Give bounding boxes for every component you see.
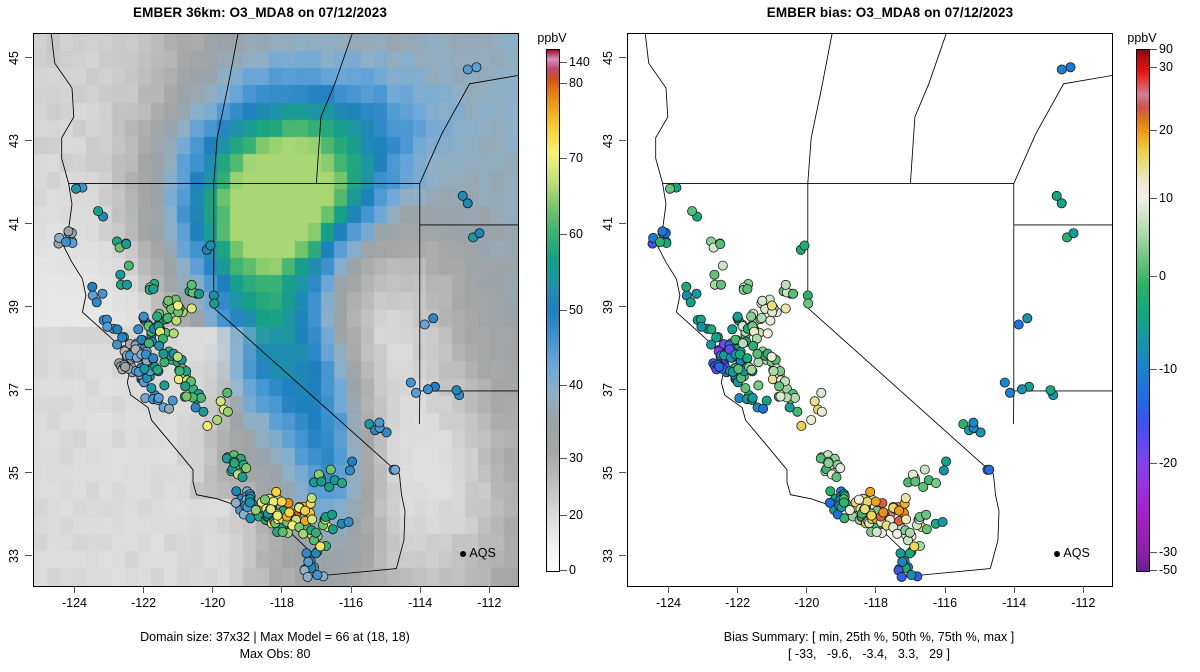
- colorbar-tick: [560, 310, 567, 311]
- colorbar-tick-label: 70: [569, 151, 583, 165]
- y-tick: [25, 140, 32, 141]
- x-tick: [875, 586, 876, 593]
- bias-caption-line2: [ -33, -9.6, -3.4, 3.3, 29 ]: [627, 647, 1111, 661]
- bias-overlay: [628, 34, 1112, 586]
- colorbar-tick: [560, 158, 567, 159]
- colorbar-tick: [1150, 67, 1157, 68]
- x-tick-label: -122: [725, 596, 750, 610]
- y-tick-label: 41: [601, 217, 615, 231]
- y-tick: [25, 306, 32, 307]
- colorbar-tick-label: 10: [1159, 191, 1173, 205]
- y-tick: [619, 306, 626, 307]
- colorbar-tick-label: -30: [1159, 545, 1177, 559]
- model-colorbar-title: ppbV: [537, 31, 566, 45]
- colorbar-tick-label: 30: [1159, 60, 1173, 74]
- y-tick-label: 37: [601, 383, 615, 397]
- bias-aqs-legend-label: AQS: [1063, 546, 1089, 560]
- x-tick: [806, 586, 807, 593]
- colorbar-tick: [560, 62, 567, 63]
- x-tick: [668, 586, 669, 593]
- x-tick: [420, 586, 421, 593]
- panel-bias-plot-area: [627, 33, 1113, 587]
- y-tick-label: 33: [7, 549, 21, 563]
- colorbar-tick-label: 90: [1159, 42, 1173, 56]
- colorbar-tick-label: 140: [569, 55, 590, 69]
- x-tick-label: -124: [62, 596, 87, 610]
- x-tick: [212, 586, 213, 593]
- y-tick: [25, 389, 32, 390]
- colorbar-tick: [1150, 463, 1157, 464]
- panel-bias-title: EMBER bias: O3_MDA8 on 07/12/2023: [630, 5, 1150, 20]
- x-tick: [945, 586, 946, 593]
- x-tick-label: -122: [131, 596, 156, 610]
- y-tick: [619, 555, 626, 556]
- y-tick: [25, 57, 32, 58]
- colorbar-tick: [1150, 570, 1157, 571]
- y-tick-label: 45: [601, 51, 615, 65]
- y-tick: [25, 472, 32, 473]
- colorbar-tick-label: 20: [569, 508, 583, 522]
- colorbar-tick: [1150, 198, 1157, 199]
- colorbar-tick: [1150, 49, 1157, 50]
- x-tick-label: -112: [477, 596, 501, 610]
- y-tick: [25, 555, 32, 556]
- colorbar-tick-label: 80: [569, 76, 583, 90]
- panel-model-title: EMBER 36km: O3_MDA8 on 07/12/2023: [0, 5, 520, 20]
- colorbar-tick: [560, 515, 567, 516]
- x-tick: [489, 586, 490, 593]
- colorbar-tick: [560, 83, 567, 84]
- colorbar-tick-label: 40: [569, 378, 583, 392]
- y-tick: [619, 472, 626, 473]
- y-tick: [25, 223, 32, 224]
- colorbar-tick: [1150, 552, 1157, 553]
- colorbar-tick-label: 0: [569, 563, 576, 577]
- y-tick-label: 43: [7, 134, 21, 148]
- colorbar-tick-label: 0: [1159, 269, 1166, 283]
- x-tick-label: -118: [270, 596, 294, 610]
- bias-colorbar: [1136, 49, 1150, 572]
- y-tick-label: 35: [7, 466, 21, 480]
- colorbar-tick: [560, 234, 567, 235]
- x-tick-label: -114: [1002, 596, 1026, 610]
- colorbar-tick-label: 30: [569, 451, 583, 465]
- y-tick: [619, 57, 626, 58]
- colorbar-tick-label: 20: [1159, 123, 1173, 137]
- bias-caption-line1: Bias Summary: [ min, 25th %, 50th %, 75t…: [627, 630, 1111, 644]
- x-tick-label: -116: [933, 596, 957, 610]
- x-tick-label: -120: [794, 596, 819, 610]
- figure-root: EMBER 36km: O3_MDA8 on 07/12/2023 -124-1…: [0, 0, 1200, 672]
- colorbar-tick-label: 60: [569, 227, 583, 241]
- x-tick-label: -112: [1071, 596, 1095, 610]
- y-tick-label: 41: [7, 217, 21, 231]
- model-aqs-legend-label: AQS: [469, 546, 495, 560]
- panel-model: EMBER 36km: O3_MDA8 on 07/12/2023 -124-1…: [0, 0, 600, 672]
- y-tick-label: 37: [7, 383, 21, 397]
- colorbar-tick-label: 50: [569, 303, 583, 317]
- colorbar-tick: [560, 458, 567, 459]
- model-colorbar: [546, 49, 560, 572]
- x-tick-label: -114: [408, 596, 432, 610]
- y-tick-label: 45: [7, 51, 21, 65]
- colorbar-tick: [1150, 369, 1157, 370]
- x-tick: [74, 586, 75, 593]
- model-caption-line1: Domain size: 37x32 | Max Model = 66 at (…: [33, 630, 517, 644]
- colorbar-tick: [560, 385, 567, 386]
- panel-model-plot-area: [33, 33, 519, 587]
- model-overlay: [34, 34, 518, 586]
- bias-colorbar-title: ppbV: [1127, 31, 1156, 45]
- y-tick-label: 33: [601, 549, 615, 563]
- x-tick: [351, 586, 352, 593]
- y-tick-label: 35: [601, 466, 615, 480]
- colorbar-tick-label: -20: [1159, 456, 1177, 470]
- x-tick: [1083, 586, 1084, 593]
- colorbar-tick-label: -50: [1159, 563, 1177, 577]
- y-tick: [619, 389, 626, 390]
- x-tick-label: -118: [864, 596, 888, 610]
- y-tick-label: 39: [7, 300, 21, 314]
- model-caption-line2: Max Obs: 80: [33, 647, 517, 661]
- x-tick-label: -120: [200, 596, 225, 610]
- y-tick: [619, 223, 626, 224]
- x-tick: [1014, 586, 1015, 593]
- x-tick: [737, 586, 738, 593]
- colorbar-tick: [1150, 276, 1157, 277]
- x-tick-label: -124: [656, 596, 681, 610]
- y-tick-label: 39: [601, 300, 615, 314]
- x-tick: [143, 586, 144, 593]
- y-tick-label: 43: [601, 134, 615, 148]
- colorbar-tick: [1150, 130, 1157, 131]
- colorbar-tick-label: -10: [1159, 362, 1177, 376]
- panel-bias: EMBER bias: O3_MDA8 on 07/12/2023 -124-1…: [600, 0, 1200, 672]
- x-tick-label: -116: [339, 596, 363, 610]
- colorbar-tick: [560, 570, 567, 571]
- y-tick: [619, 140, 626, 141]
- x-tick: [281, 586, 282, 593]
